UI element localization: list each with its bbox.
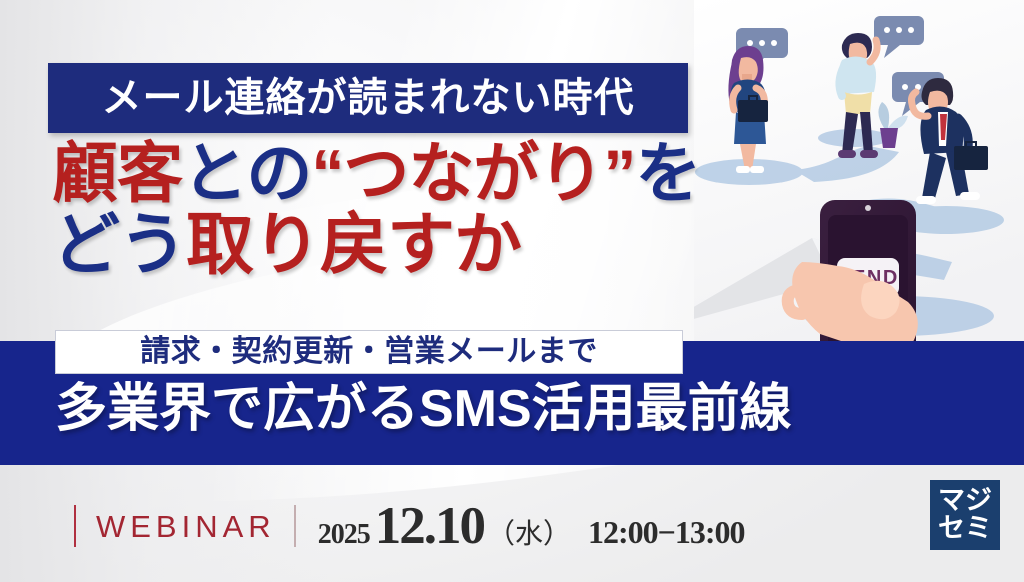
date-weekday: （水） xyxy=(484,512,571,552)
headline: 顧客との“つながり”を どう取り戻すか xyxy=(52,140,712,281)
date-year: 2025 xyxy=(318,519,370,551)
eyebrow-strip: メール連絡が読まれない時代 xyxy=(48,63,688,133)
headline-seg-kokyaku: 顧客 xyxy=(52,136,182,210)
band-title-text: 多業界で広がるSMS活用最前線 xyxy=(55,380,792,438)
lower-band: 請求・契約更新・営業メールまで 多業界で広がるSMS活用最前線 xyxy=(0,341,1024,465)
headline-seg-torimodosu: 取り戻すか xyxy=(186,207,521,283)
headline-seg-tono: との xyxy=(182,136,311,210)
webinar-label: WEBINAR xyxy=(76,511,294,542)
webinar-banner: SEND メール連絡が読まれない時代 顧客との“つながり”を どう取り戻すか 請… xyxy=(0,0,1024,582)
band-subtitle-text: 請求・契約更新・営業メールまで xyxy=(140,337,598,367)
band-title: 多業界で広がるSMS活用最前線 xyxy=(55,383,792,435)
footer-row: WEBINAR 2025 12.10 （水） 12:00−13:00 xyxy=(0,470,1024,582)
eyebrow-text: メール連絡が読まれない時代 xyxy=(102,78,635,118)
headline-seg-dou: どう xyxy=(52,207,186,283)
event-time: 12:00−13:00 xyxy=(571,514,745,551)
illustration: SEND xyxy=(694,0,1024,345)
headline-seg-tsunagari: “つながり” xyxy=(311,136,635,210)
headline-line-2: どう取り戻すか xyxy=(52,211,712,280)
band-subtitle-box: 請求・契約更新・営業メールまで xyxy=(55,330,683,374)
headline-seg-wo: を xyxy=(635,136,700,210)
logo-line-1: マジ xyxy=(938,487,992,515)
majisemi-logo[interactable]: マジ セミ xyxy=(930,480,1000,550)
logo-line-2: セミ xyxy=(938,515,992,543)
headline-line-1: 顧客との“つながり”を xyxy=(52,140,712,207)
date-day: 12.10 xyxy=(370,496,484,556)
date-time-block: 2025 12.10 （水） 12:00−13:00 xyxy=(296,496,745,556)
